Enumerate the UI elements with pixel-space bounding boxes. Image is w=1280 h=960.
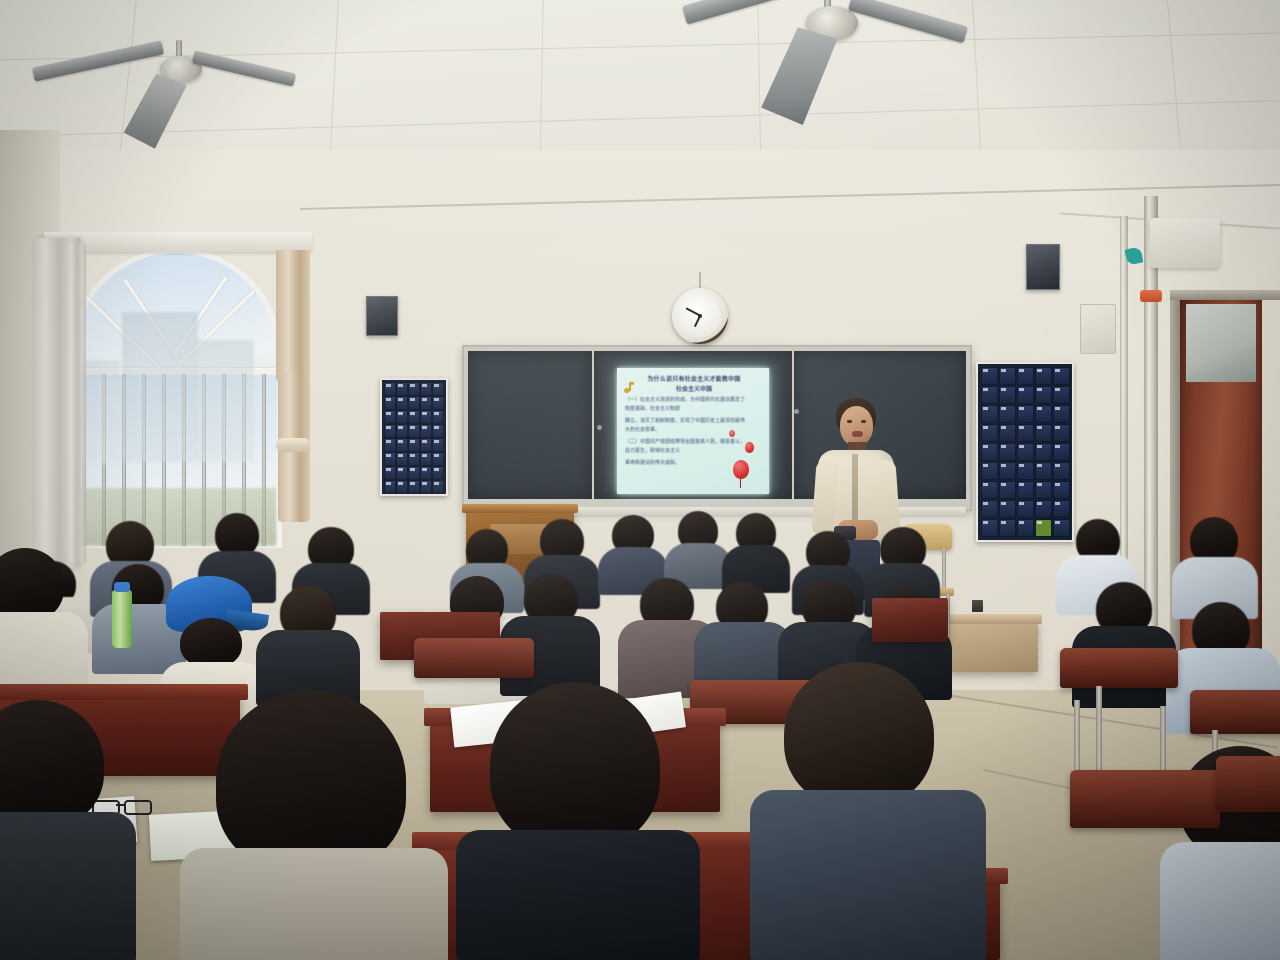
clock-face (679, 295, 721, 337)
chair (1060, 648, 1178, 688)
student-head (216, 690, 406, 872)
blackboard-panel-left (468, 351, 592, 499)
student-torso (1160, 842, 1280, 960)
curtain-tieback (276, 438, 310, 452)
speaker-left (366, 296, 398, 336)
desk-leg (1074, 700, 1080, 780)
bottle-cap (114, 582, 130, 592)
fan-blade (122, 70, 188, 152)
classroom-photo: 为什么说只有社会主义才能救中国 社会主义中国 （一）社会主义改造的完成，为中国现… (0, 0, 1280, 960)
phone-pocket-organizer-left (380, 378, 448, 496)
door-header (1170, 290, 1280, 300)
student-head (180, 618, 242, 668)
student-blue-cap (156, 574, 266, 694)
speaker-right (1026, 244, 1060, 290)
balloon-icon (745, 442, 754, 453)
student-foreground-right (760, 662, 980, 960)
music-note-icon (624, 382, 634, 394)
balloon-icon (729, 430, 735, 437)
student-foreground-left (190, 690, 440, 960)
chair (1216, 756, 1280, 812)
chair-leg (1096, 686, 1102, 776)
chair (1070, 770, 1220, 828)
ceiling-fan-back-right (740, 0, 970, 112)
projected-slide: 为什么说只有社会主义才能救中国 社会主义中国 （一）社会主义改造的完成，为中国现… (617, 368, 769, 494)
student-foreground-center (470, 682, 700, 960)
wall-panel-right (1080, 304, 1116, 354)
water-bottle (112, 590, 132, 648)
instructor-mouth (852, 431, 863, 437)
instructor-head (840, 406, 873, 446)
balloon-icon (733, 460, 749, 479)
slide-subtitle: 社会主义中国 (627, 386, 761, 394)
arched-window (52, 248, 300, 548)
chair (1190, 690, 1280, 734)
student-head (490, 682, 660, 850)
instructor-eye (847, 420, 852, 423)
student-torso (0, 812, 136, 960)
wall-clock (672, 288, 728, 344)
slide-body-line: （一）社会主义改造的完成，为中国现代化建设奠定了制度基础，社会主义制度 (625, 396, 747, 414)
fan-blade (848, 0, 968, 43)
slide-body-line: （二）中国共产党团结带领全国各族人民，艰苦奋斗，自力更生，取得社会主义 (625, 438, 747, 456)
student-head (0, 700, 104, 828)
slide-title: 为什么说只有社会主义才能救中国 (627, 376, 761, 384)
student-foreground-far-left (0, 700, 130, 960)
student-head (784, 662, 934, 808)
balloon-string (740, 478, 741, 488)
door-transom-glass (1186, 304, 1256, 382)
fan-blade (192, 50, 296, 86)
student-torso (456, 830, 700, 960)
chair (414, 638, 534, 678)
student-torso (180, 848, 448, 960)
slide-body-line: 革命和建设的伟大成就。 (625, 459, 747, 468)
desk (872, 598, 948, 642)
student-torso (750, 790, 986, 960)
ac-unit (1150, 218, 1220, 268)
ceiling-fan-front-left (80, 40, 290, 150)
pipe-band (1140, 290, 1162, 302)
blackboard-knob (597, 425, 602, 430)
curtain-right (276, 250, 310, 382)
instructor-eye (861, 420, 866, 423)
